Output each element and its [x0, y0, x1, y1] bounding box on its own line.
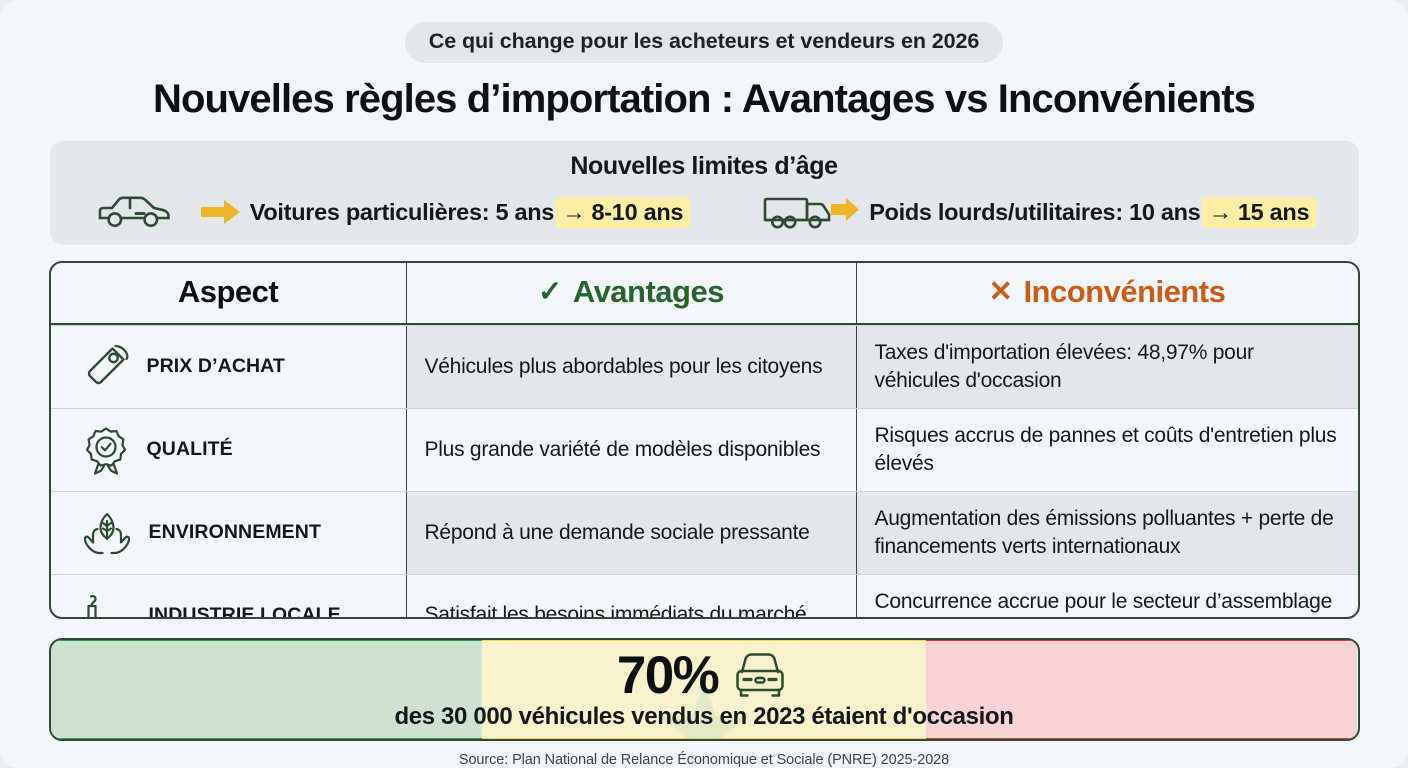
- row-pro-cell-environment: Répond à une demande sociale pressante: [406, 492, 856, 574]
- table-header-cons: ✕ Inconvénients: [856, 263, 1358, 323]
- infographic-page: Ce qui change pour les acheteurs et vend…: [0, 0, 1408, 768]
- table-header-aspect: Aspect: [51, 263, 406, 323]
- age-limit-item-cars: Voitures particulières: 5 ans→ 8-10 ans: [92, 191, 690, 233]
- row-aspect-label-industry: INDUSTRIE LOCALE: [149, 604, 341, 619]
- stat-percent: 70%: [617, 649, 718, 702]
- age-limit-value-trucks: 15 ans: [1238, 199, 1309, 225]
- row-aspect-cell-price: PRIX D’ACHAT: [51, 326, 406, 408]
- age-limit-text-trucks: Poids lourds/utilitaires: 10 ans: [869, 199, 1200, 225]
- row-con-text-price: Taxes d'importation élevées: 48,97% pour…: [875, 339, 1340, 395]
- check-icon: ✓: [538, 278, 562, 307]
- age-limits-panel: Nouvelles limites d’âge: [50, 141, 1359, 245]
- table-row: ENVIRONNEMENT Répond à une demande socia…: [51, 491, 1358, 574]
- table-row: PRIX D’ACHAT Véhicules plus abordables p…: [51, 325, 1358, 408]
- kicker-wrap: Ce qui change pour les acheteurs et vend…: [405, 22, 1003, 63]
- car-front-icon: [729, 650, 791, 700]
- stat-banner-headline: 70%: [617, 649, 791, 702]
- row-pro-text-quality: Plus grande variété de modèles disponibl…: [425, 436, 821, 464]
- hands-plant-icon: [82, 509, 132, 557]
- row-pro-text-price: Véhicules plus abordables pour les citoy…: [425, 353, 823, 381]
- row-pro-cell-quality: Plus grande variété de modèles disponibl…: [406, 409, 856, 491]
- row-aspect-cell-quality: QUALITÉ: [51, 409, 406, 491]
- age-limit-new-cars: → 8-10 ans: [556, 197, 690, 228]
- table-header-cons-label: Inconvénients: [1023, 274, 1225, 310]
- row-aspect-cell-industry: INDUSTRIE LOCALE: [51, 575, 406, 619]
- row-con-cell-environment: Augmentation des émissions polluantes + …: [856, 492, 1358, 574]
- table-header-pros-label: Avantages: [573, 274, 724, 310]
- age-limit-value-cars: 8-10 ans: [592, 199, 684, 225]
- row-pro-text-environment: Répond à une demande sociale pressante: [425, 519, 810, 547]
- row-con-text-environment: Augmentation des émissions polluantes + …: [875, 505, 1340, 561]
- row-pro-text-industry: Satisfait les besoins immédiats du march…: [425, 601, 807, 619]
- table-header-row: Aspect ✓ Avantages ✕ Inconvénients: [51, 263, 1358, 325]
- row-pro-cell-industry: Satisfait les besoins immédiats du march…: [406, 575, 856, 619]
- stat-banner-content: 70% des 30 000 véhicules vendus en 2023 …: [51, 640, 1358, 739]
- row-con-text-industry: Concurrence accrue pour le secteur d’ass…: [875, 588, 1340, 619]
- comparison-table: Aspect ✓ Avantages ✕ Inconvénients: [49, 261, 1360, 619]
- source-note: Source: Plan National de Relance Économi…: [459, 752, 949, 768]
- row-con-cell-price: Taxes d'importation élevées: 48,97% pour…: [856, 326, 1358, 408]
- stat-caption: des 30 000 véhicules vendus en 2023 étai…: [394, 703, 1013, 731]
- row-pro-cell-price: Véhicules plus abordables pour les citoy…: [406, 326, 856, 408]
- age-arrow-glyph-trucks: →: [1208, 199, 1231, 225]
- age-arrow-glyph-cars: →: [562, 199, 585, 225]
- table-header-pros: ✓ Avantages: [406, 263, 856, 323]
- cross-icon: ✕: [989, 278, 1013, 307]
- row-con-cell-industry: Concurrence accrue pour le secteur d’ass…: [856, 575, 1358, 619]
- table-row: INDUSTRIE LOCALE Satisfait les besoins i…: [51, 574, 1358, 619]
- truck-icon: [760, 191, 860, 233]
- age-limit-item-trucks: Poids lourds/utilitaires: 10 ans→ 15 ans: [760, 191, 1316, 233]
- row-con-text-quality: Risques accrus de pannes et coûts d'entr…: [875, 422, 1340, 478]
- page-title: Nouvelles règles d’importation : Avantag…: [153, 77, 1255, 122]
- age-limits-items: Voitures particulières: 5 ans→ 8-10 ans: [50, 191, 1359, 233]
- car-icon: [92, 191, 199, 233]
- factory-gear-icon: [82, 591, 132, 619]
- arrow-right-icon: [201, 197, 241, 227]
- price-tag-icon: [82, 343, 130, 391]
- age-limit-label-cars: Voitures particulières: 5 ans→ 8-10 ans: [250, 199, 690, 226]
- stat-banner: 70% des 30 000 véhicules vendus en 2023 …: [49, 638, 1360, 741]
- row-aspect-cell-environment: ENVIRONNEMENT: [51, 492, 406, 574]
- table-header-aspect-label: Aspect: [178, 274, 278, 310]
- age-limit-label-trucks: Poids lourds/utilitaires: 10 ans→ 15 ans: [869, 199, 1316, 226]
- table-row: QUALITÉ Plus grande variété de modèles d…: [51, 408, 1358, 491]
- age-limit-text-cars: Voitures particulières: 5 ans: [250, 199, 554, 225]
- age-limit-new-trucks: → 15 ans: [1202, 197, 1316, 228]
- age-limits-title: Nouvelles limites d’âge: [50, 152, 1359, 181]
- row-aspect-label-quality: QUALITÉ: [147, 438, 233, 461]
- row-con-cell-quality: Risques accrus de pannes et coûts d'entr…: [856, 409, 1358, 491]
- kicker-pill: Ce qui change pour les acheteurs et vend…: [405, 22, 1003, 63]
- row-aspect-label-environment: ENVIRONNEMENT: [149, 521, 321, 544]
- quality-badge-icon: [82, 425, 130, 475]
- row-aspect-label-price: PRIX D’ACHAT: [147, 355, 285, 378]
